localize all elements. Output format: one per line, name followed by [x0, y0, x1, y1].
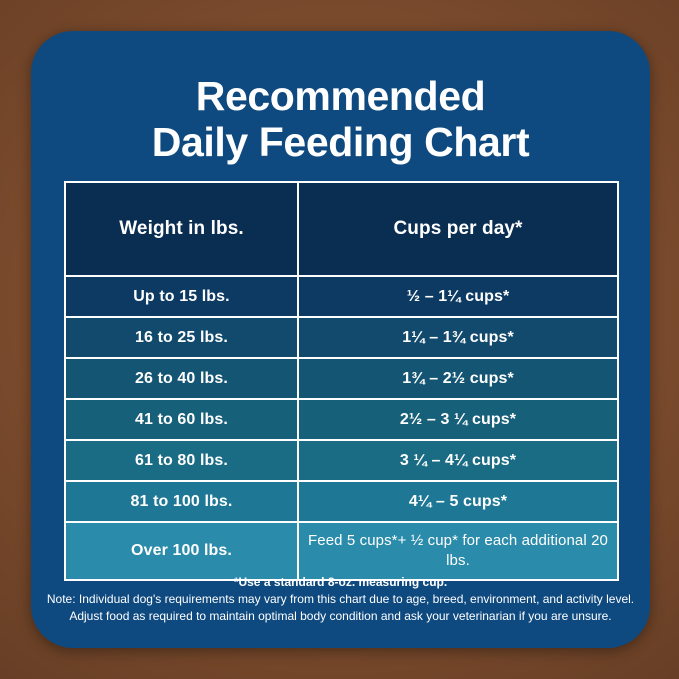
column-header-weight: Weight in lbs. — [65, 182, 298, 276]
page-title: Recommended Daily Feeding Chart — [31, 31, 650, 166]
table-row: 41 to 60 lbs.2½ – 3 ¼ cups* — [65, 399, 618, 440]
cell-weight: Up to 15 lbs. — [65, 276, 298, 317]
table-row: 26 to 40 lbs.1¾ – 2½ cups* — [65, 358, 618, 399]
footnote-measuring-cup: *Use a standard 8-oz. measuring cup. — [31, 575, 650, 589]
table-row: Over 100 lbs.Feed 5 cups*+ ½ cup* for ea… — [65, 522, 618, 580]
cell-cups: 4¼ – 5 cups* — [298, 481, 618, 522]
cell-cups: 2½ – 3 ¼ cups* — [298, 399, 618, 440]
footnotes: *Use a standard 8-oz. measuring cup. Not… — [31, 575, 650, 626]
title-line-2: Daily Feeding Chart — [31, 119, 650, 165]
cell-weight: 61 to 80 lbs. — [65, 440, 298, 481]
table-row: 16 to 25 lbs.1¼ – 1¾ cups* — [65, 317, 618, 358]
feeding-chart-card: Recommended Daily Feeding Chart Weight i… — [31, 31, 650, 648]
table-row: 81 to 100 lbs.4¼ – 5 cups* — [65, 481, 618, 522]
cell-weight: 81 to 100 lbs. — [65, 481, 298, 522]
cell-weight: 16 to 25 lbs. — [65, 317, 298, 358]
title-line-1: Recommended — [31, 73, 650, 119]
table-row: 61 to 80 lbs.3 ¼ – 4¼ cups* — [65, 440, 618, 481]
table-header-row: Weight in lbs. Cups per day* — [65, 182, 618, 276]
cell-weight: Over 100 lbs. — [65, 522, 298, 580]
cell-cups: Feed 5 cups*+ ½ cup* for each additional… — [298, 522, 618, 580]
cell-cups: 1¼ – 1¾ cups* — [298, 317, 618, 358]
footnote-note-line-2: Adjust food as required to maintain opti… — [31, 608, 650, 625]
cell-weight: 26 to 40 lbs. — [65, 358, 298, 399]
footnote-note-line-1: Note: Individual dog's requirements may … — [31, 591, 650, 608]
table-row: Up to 15 lbs.½ – 1¼ cups* — [65, 276, 618, 317]
cell-weight: 41 to 60 lbs. — [65, 399, 298, 440]
table-body: Up to 15 lbs.½ – 1¼ cups*16 to 25 lbs.1¼… — [65, 276, 618, 580]
cell-cups: 3 ¼ – 4¼ cups* — [298, 440, 618, 481]
cell-cups: 1¾ – 2½ cups* — [298, 358, 618, 399]
feeding-chart-table: Weight in lbs. Cups per day* Up to 15 lb… — [64, 181, 619, 581]
column-header-cups: Cups per day* — [298, 182, 618, 276]
cell-cups: ½ – 1¼ cups* — [298, 276, 618, 317]
